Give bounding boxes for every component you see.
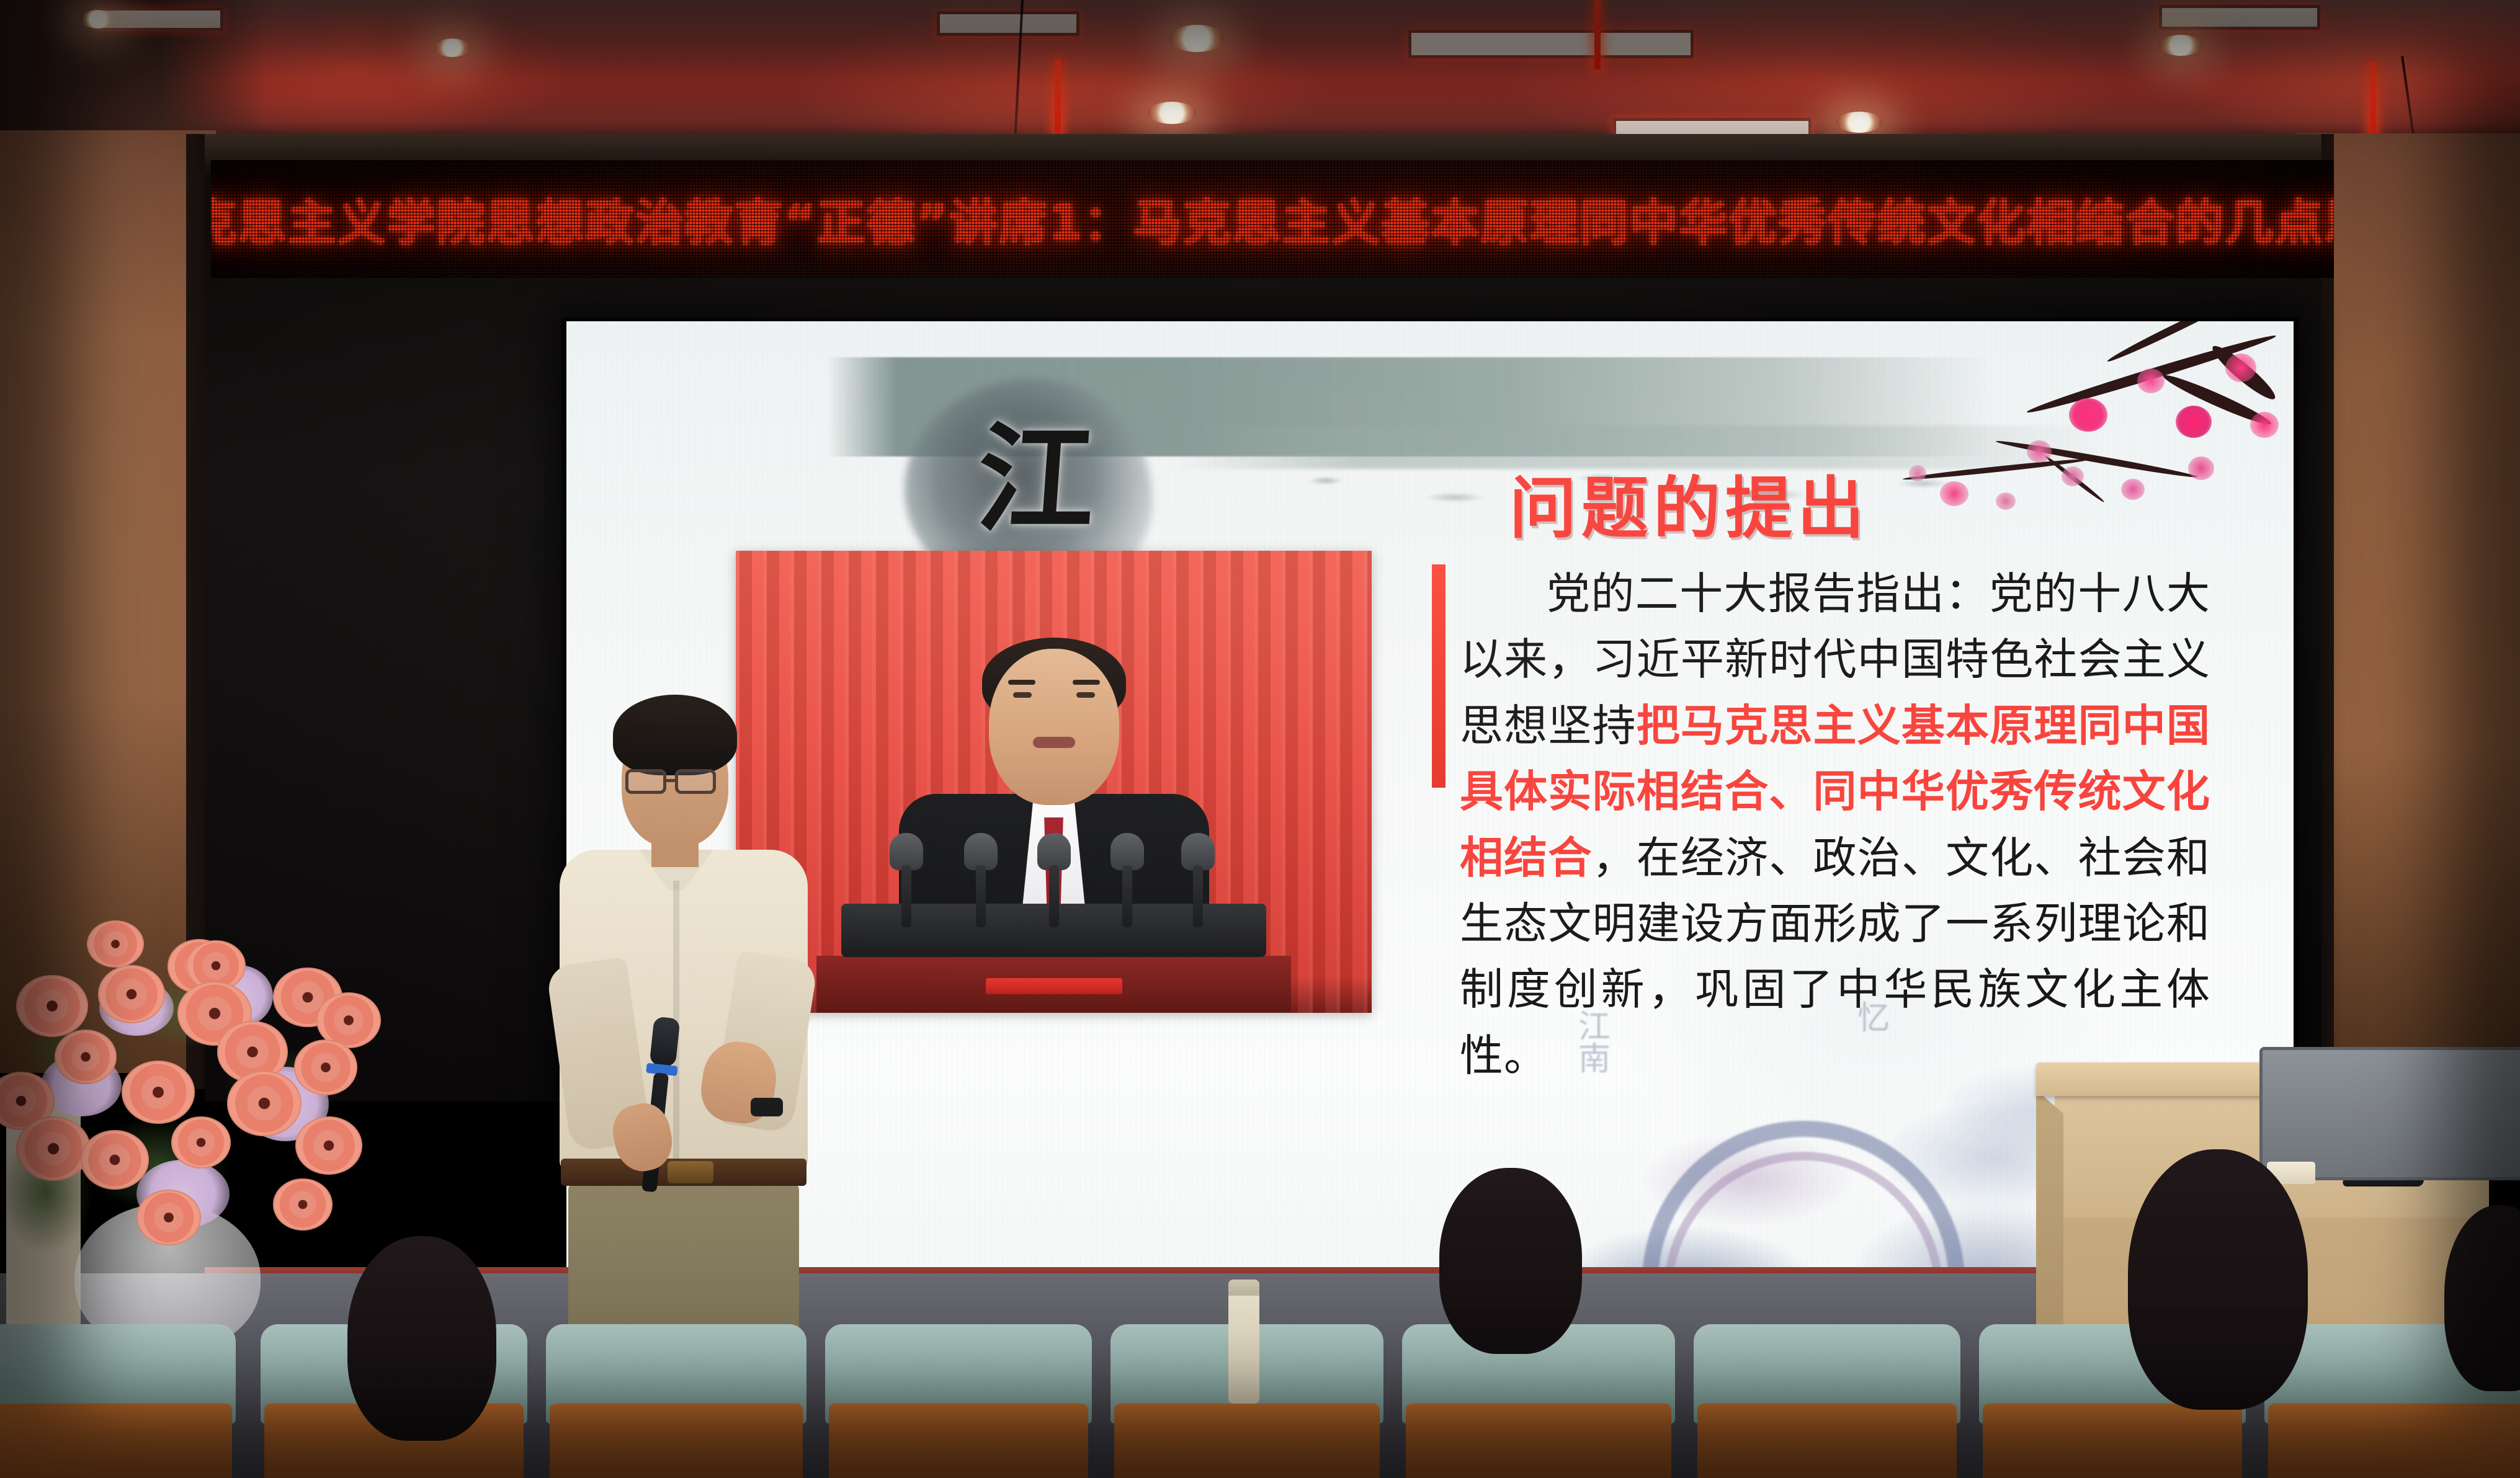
gerbera-flower	[81, 1130, 149, 1190]
ceiling-vent	[1408, 30, 1694, 58]
floor-bollard	[1228, 1280, 1259, 1404]
audience-head	[1439, 1168, 1582, 1354]
audience-head	[2128, 1149, 2308, 1410]
photo-speaker-mouth	[1033, 737, 1075, 748]
presenter-hair	[613, 695, 737, 775]
gerbera-flower	[87, 920, 144, 968]
photo-speaker-head	[989, 649, 1119, 805]
photo-microphone	[1110, 833, 1144, 926]
gerbera-flower	[98, 965, 165, 1023]
slide-title: 问题的提出	[1509, 455, 2192, 551]
photo-speaker-brow	[1073, 680, 1100, 685]
glasses-icon	[675, 769, 716, 794]
photo-speaker-eye	[1076, 692, 1095, 698]
wristwatch-icon	[751, 1098, 783, 1116]
seat	[546, 1323, 806, 1478]
gerbera-flower	[136, 1190, 201, 1245]
gerbera-flower	[171, 1116, 231, 1169]
ceiling-led-strip	[1055, 60, 1061, 140]
ceiling-vent	[937, 11, 1079, 36]
lecture-hall-scene: 马克思主义学院思想政治教育“正德”讲席1：马克思主义基本原理同中华优秀传统文化相…	[0, 0, 2520, 1478]
audience-head	[347, 1236, 496, 1441]
ceiling-red-light-wash	[0, 0, 2520, 144]
photo-speaker-eye	[1013, 692, 1032, 698]
ceiling-vent	[2159, 5, 2320, 30]
laptop-screen	[2259, 1047, 2520, 1180]
photo-microphone	[1181, 833, 1215, 926]
gerbera-flower	[273, 1178, 333, 1231]
photo-speaker-brow	[1008, 680, 1035, 685]
photo-microphone	[890, 833, 923, 926]
ceiling-downlight	[434, 38, 470, 57]
glasses-icon	[625, 769, 666, 794]
gerbera-flower	[16, 975, 88, 1037]
slide-accent-bar	[1432, 564, 1445, 788]
seat	[0, 1317, 236, 1478]
photo-podium-red-strip	[986, 978, 1122, 994]
led-banner-text: 马克思主义学院思想政治教育“正德”讲席1：马克思主义基本原理同中华优秀传统文化相…	[211, 184, 2334, 254]
ceiling-downlight	[2159, 35, 2202, 56]
glasses-bridge	[666, 779, 676, 782]
calligraphy-jiangnan: 江南	[927, 402, 1143, 563]
led-banner: 马克思主义学院思想政治教育“正德”讲席1：马克思主义基本原理同中华优秀传统文化相…	[211, 160, 2334, 278]
seat	[825, 1323, 1092, 1478]
presenter-belt-buckle	[668, 1161, 713, 1183]
seal-mark: 江南	[1574, 1009, 1608, 1074]
ceiling-downlight	[81, 10, 115, 29]
ceiling-led-strip	[1594, 0, 1601, 69]
gerbera-flower	[227, 1071, 302, 1136]
gerbera-flower	[294, 1039, 357, 1095]
seal-mark: 忆	[1853, 1000, 1887, 1033]
photo-microphone	[1037, 833, 1071, 926]
laptop[interactable]	[2259, 1044, 2520, 1180]
presenter	[546, 695, 838, 1427]
ceiling-led-strip	[2370, 62, 2376, 143]
ceiling-downlight	[1169, 25, 1224, 52]
ceiling-downlight	[1148, 102, 1196, 124]
ceiling-downlight	[1836, 112, 1882, 133]
gerbera-flower	[16, 1116, 91, 1181]
gerbera-flower	[55, 1030, 117, 1084]
gerbera-flower	[122, 1061, 195, 1124]
photo-microphone	[964, 833, 998, 926]
gerbera-flower	[295, 1116, 362, 1175]
ceiling	[0, 0, 2520, 144]
seat	[1694, 1323, 1960, 1478]
